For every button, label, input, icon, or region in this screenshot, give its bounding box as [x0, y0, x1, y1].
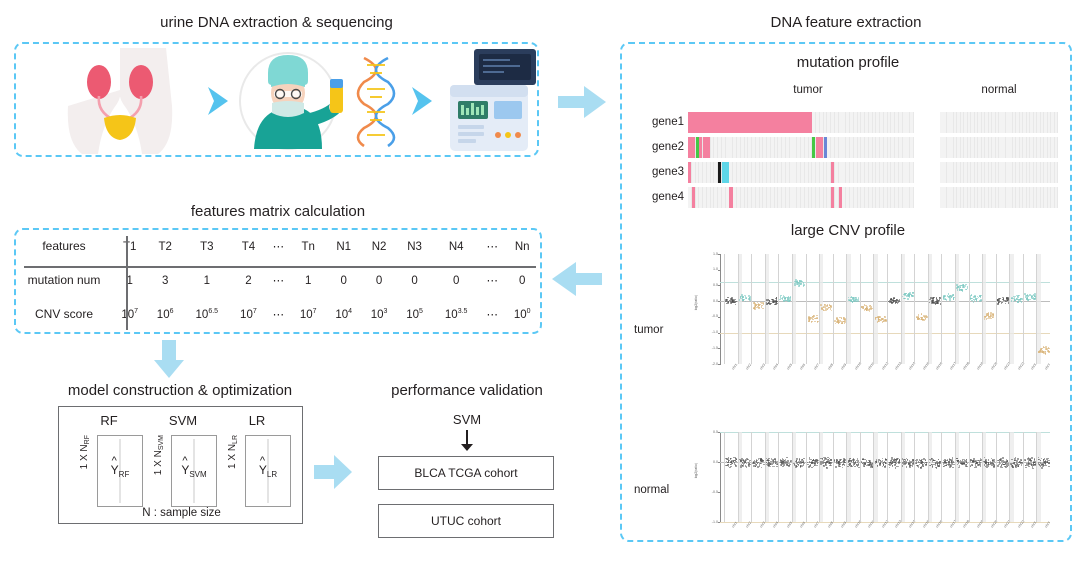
- cnv-data-point: [794, 283, 796, 285]
- cnv-data-point: [851, 466, 852, 467]
- chromosome-divider: [833, 254, 834, 364]
- gene-label-gene3: gene3: [630, 162, 684, 183]
- cnv-data-point: [739, 299, 741, 301]
- y-tick-label: 0.0: [698, 299, 718, 303]
- cnv-data-point: [1003, 298, 1005, 300]
- cnv-data-point: [952, 457, 953, 458]
- cnv-data-point: [746, 297, 748, 299]
- cnv-data-point: [1044, 458, 1045, 459]
- cnv-data-point: [842, 464, 843, 465]
- x-tick-label: chr12: [881, 361, 889, 370]
- cnv-data-point: [1011, 298, 1013, 300]
- chromosome-divider: [738, 432, 739, 522]
- y-tick-label: 0.5: [698, 430, 718, 434]
- chromosome-divider: [969, 254, 970, 364]
- cnv-data-point: [814, 463, 815, 464]
- cnv-data-point: [893, 460, 894, 461]
- chromosome-divider: [969, 432, 970, 522]
- cnv-data-point: [1028, 466, 1029, 467]
- cnv-data-point: [824, 310, 826, 312]
- cnv-data-point: [830, 459, 831, 460]
- matrix-vertical-divider: [126, 236, 128, 330]
- mutation-mark-cyan: [722, 162, 729, 183]
- x-tick-label: chr18: [962, 519, 970, 528]
- onco-block-tumor: [688, 187, 914, 208]
- cnv-data-point: [774, 458, 775, 459]
- cnv-data-point: [762, 308, 764, 310]
- chromosome-divider: [1009, 432, 1010, 522]
- cnv-data-point: [752, 463, 753, 464]
- cnv-data-point: [770, 461, 771, 462]
- arrow-left-to-matrix: [548, 258, 604, 300]
- cnv-data-point: [1048, 348, 1050, 350]
- chromosome-divider: [765, 254, 766, 364]
- y-tick-label: -1.5: [698, 346, 718, 350]
- cnv-data-point: [1029, 459, 1030, 460]
- cnv-data-point: [965, 286, 967, 288]
- kidney-anatomy-illustration: [38, 46, 208, 156]
- cnv-data-point: [1005, 464, 1006, 465]
- cnv-data-point: [1045, 352, 1047, 354]
- arrow-right-to-validation: [312, 452, 354, 492]
- cnv-data-point: [729, 467, 730, 468]
- cnv-data-point: [895, 467, 896, 468]
- chevron-arrow-icon: [204, 84, 234, 118]
- cnv-data-point: [884, 466, 885, 467]
- cnv-data-point: [807, 464, 808, 465]
- cnv-data-point: [1016, 298, 1018, 300]
- cnv-data-point: [755, 466, 756, 467]
- cnv-data-point: [1041, 467, 1042, 468]
- model-section-title: model construction & optimization: [22, 382, 338, 399]
- cnv-data-point: [1031, 460, 1032, 461]
- cnv-data-point: [838, 462, 839, 463]
- matrix-bracket-svm: YSVM: [171, 435, 217, 507]
- mutation-mark-pink: [703, 137, 710, 158]
- cnv-data-point: [892, 461, 893, 462]
- cnv-data-point: [932, 466, 933, 467]
- cnv-data-point: [788, 465, 789, 466]
- x-tick-label: chr16: [935, 519, 943, 528]
- cnv-data-point: [799, 463, 800, 464]
- cnv-data-point: [993, 314, 995, 316]
- cnv-data-point: [844, 322, 846, 324]
- row-label-features: features: [16, 230, 112, 264]
- cnv-data-point: [1020, 299, 1022, 301]
- cnv-data-point: [918, 319, 920, 321]
- onco-row-gene3: gene3: [688, 162, 1058, 183]
- cnv-data-point: [864, 466, 865, 467]
- cnv-data-point: [1045, 348, 1047, 350]
- chromosome-divider: [901, 432, 902, 522]
- chromosome-divider: [860, 254, 861, 364]
- group-label-normal: normal: [940, 84, 1058, 96]
- chromosome-divider: [792, 432, 793, 522]
- chromosome-divider: [738, 254, 739, 364]
- scientist-illustration: [238, 47, 356, 155]
- cnv-data-point: [936, 467, 937, 468]
- cnv-data-point: [898, 302, 900, 304]
- cnv-data-point: [772, 466, 773, 467]
- cnv-data-point: [835, 466, 836, 467]
- cnv-data-point: [883, 321, 885, 323]
- cnv-data-point: [950, 465, 951, 466]
- cnv-data-point: [1007, 466, 1008, 467]
- y-tick-label: 0.0: [698, 460, 718, 464]
- cnv-data-point: [953, 461, 954, 462]
- mutation-mark-pink: [729, 187, 732, 208]
- cnv-data-point: [745, 465, 746, 466]
- mutation-mark-pink: [688, 112, 812, 133]
- cnv-data-point: [921, 461, 922, 462]
- cnv-data-point: [952, 467, 953, 468]
- mutation-mark-pink: [831, 162, 834, 183]
- cnv-data-point: [768, 302, 770, 304]
- cnv-data-point: [907, 298, 909, 300]
- cnv-data-point: [878, 321, 880, 323]
- cnv-data-point: [976, 466, 977, 467]
- cnv-data-point: [949, 299, 951, 301]
- cohort-box-blca[interactable]: BLCA TCGA cohort: [378, 456, 554, 490]
- y-tick-label: -2.0: [698, 362, 718, 366]
- y-hat-lr: YLR: [259, 463, 277, 479]
- cnv-data-point: [771, 299, 773, 301]
- cnv-data-point: [757, 466, 758, 467]
- cell-cnv-score: 105: [397, 298, 432, 332]
- cnv-data-point: [834, 320, 836, 322]
- dna-section-title: DNA feature extraction: [620, 14, 1072, 31]
- cnv-data-point: [885, 458, 886, 459]
- col-header: Nn: [504, 230, 540, 264]
- cnv-data-point: [782, 466, 783, 467]
- cnv-data-point: [767, 459, 768, 460]
- cnv-data-point: [825, 465, 826, 466]
- cell-cnv-score: 106.5: [183, 298, 231, 332]
- col-header: T3: [183, 230, 231, 264]
- cell-mutation-num: 0: [432, 264, 480, 298]
- x-tick-label: chr20: [990, 519, 998, 528]
- cnv-data-point: [796, 281, 798, 283]
- cnv-data-point: [1040, 349, 1042, 351]
- cnv-data-point: [932, 299, 934, 301]
- cnv-plot-tumor: 1.51.00.50.0-0.5-1.0-1.5-2.0log2(ratio)c…: [694, 248, 1056, 398]
- cnv-data-point: [909, 297, 911, 299]
- cnv-data-point: [908, 294, 910, 296]
- cnv-data-point: [911, 295, 913, 297]
- cnv-data-point: [787, 298, 789, 300]
- cnv-data-point: [891, 299, 893, 301]
- cell-mutation-num: 0: [326, 264, 361, 298]
- chromosome-divider: [914, 432, 915, 522]
- cnv-data-point: [988, 459, 989, 460]
- cnv-data-point: [850, 458, 851, 459]
- cnv-data-point: [762, 460, 763, 461]
- chromosome-divider: [941, 432, 942, 522]
- dna-helix-icon: [354, 56, 400, 148]
- cohort-box-utuc[interactable]: UTUC cohort: [378, 504, 554, 538]
- cell-mutation-num: 1: [291, 264, 326, 298]
- cnv-data-point: [987, 465, 988, 466]
- cnv-data-point: [853, 459, 854, 460]
- cnv-data-point: [935, 465, 936, 466]
- classifier-name-svm: SVM: [147, 413, 219, 428]
- x-tick-label: chr16: [935, 361, 943, 370]
- table-header-row: features T1 T2 T3 T4 ⋯ Tn N1 N2 N3 N4 ⋯ …: [16, 230, 540, 264]
- cnv-data-point: [760, 463, 761, 464]
- row-label-cnv-score: CNV score: [16, 298, 112, 332]
- cnv-data-point: [802, 466, 803, 467]
- mutation-mark-pink: [692, 187, 695, 208]
- dimension-label-svm: 1 X NSVM: [153, 435, 165, 475]
- cnv-data-point: [755, 306, 757, 308]
- cnv-data-point: [948, 462, 949, 463]
- mutation-mark-pink: [816, 137, 823, 158]
- cnv-data-point: [939, 465, 940, 466]
- cnv-data-point: [822, 309, 824, 311]
- gridline: [720, 282, 1050, 283]
- cnv-data-point: [905, 463, 906, 464]
- col-header: T2: [147, 230, 182, 264]
- cnv-data-point: [966, 459, 967, 460]
- cnv-data-point: [986, 467, 987, 468]
- arrow-down-to-cohorts: [459, 430, 475, 452]
- cnv-data-point: [1048, 463, 1049, 464]
- cnv-data-point: [898, 301, 900, 303]
- y-tick-mark: [718, 492, 721, 493]
- cell-cnv-score: 103.5: [432, 298, 480, 332]
- chromosome-divider: [982, 432, 983, 522]
- row-label-mutation-num: mutation num: [16, 264, 112, 298]
- chromosome-divider: [806, 432, 807, 522]
- cnv-data-point: [825, 308, 827, 310]
- cnv-data-point: [1030, 463, 1031, 464]
- cell-mutation-num: 2: [231, 264, 266, 298]
- cnv-data-point: [1032, 466, 1033, 467]
- cnv-data-point: [923, 466, 924, 467]
- cnv-data-point: [974, 295, 976, 297]
- cnv-data-point: [773, 461, 774, 462]
- y-tick-label: 0.5: [698, 283, 718, 287]
- chromosome-divider: [765, 432, 766, 522]
- cnv-data-point: [1002, 297, 1004, 299]
- cnv-data-point: [771, 458, 772, 459]
- cnv-data-point: [730, 466, 731, 467]
- cnv-data-point: [788, 463, 789, 464]
- classifier-name-rf: RF: [73, 413, 145, 428]
- cell-ellipsis: ⋯: [266, 298, 290, 332]
- cnv-data-point: [1026, 297, 1028, 299]
- cnv-data-point: [867, 465, 868, 466]
- cnv-data-point: [866, 460, 867, 461]
- cnv-data-point: [1033, 298, 1035, 300]
- cnv-data-point: [824, 459, 825, 460]
- y-hat-svm: YSVM: [181, 463, 206, 479]
- cnv-data-point: [1041, 464, 1042, 465]
- x-tick-label: chr20: [990, 361, 998, 370]
- cnv-data-point: [988, 463, 989, 464]
- cnv-data-point: [839, 466, 840, 467]
- cnv-data-point: [857, 301, 859, 303]
- col-header-ellipsis: ⋯: [480, 230, 504, 264]
- chromosome-divider: [792, 254, 793, 364]
- mutation-mark-blue: [824, 137, 827, 158]
- cnv-data-point: [1005, 303, 1007, 305]
- cnv-data-point: [915, 463, 916, 464]
- cnv-data-point: [726, 299, 728, 301]
- cnv-data-point: [985, 459, 986, 460]
- x-tick-label: chr18: [962, 361, 970, 370]
- cnv-data-point: [897, 299, 899, 301]
- onco-block-normal: [940, 162, 1058, 183]
- cnv-data-point: [965, 465, 966, 466]
- cnv-data-point: [830, 465, 831, 466]
- col-header: N4: [432, 230, 480, 264]
- chromosome-divider: [996, 432, 997, 522]
- cnv-data-point: [1017, 296, 1019, 298]
- cnv-data-point: [740, 466, 741, 467]
- chromosome-divider: [751, 432, 752, 522]
- chromosome-divider: [860, 432, 861, 522]
- cnv-data-point: [743, 460, 744, 461]
- cell-mutation-num: 1: [183, 264, 231, 298]
- cnv-data-point: [1002, 457, 1003, 458]
- cnv-data-point: [1012, 467, 1013, 468]
- chromosome-divider: [819, 432, 820, 522]
- cnv-data-point: [780, 459, 781, 460]
- cnv-data-point: [1014, 300, 1016, 302]
- cnv-data-point: [847, 466, 848, 467]
- cnv-data-point: [814, 460, 815, 461]
- cell-mutation-num: 3: [147, 264, 182, 298]
- mutation-mark-black: [718, 162, 721, 183]
- matrix-horizontal-divider: [24, 266, 536, 268]
- cnv-data-point: [902, 465, 903, 466]
- col-header: N2: [361, 230, 396, 264]
- cnv-data-point: [775, 303, 777, 305]
- cnv-data-point: [1012, 463, 1013, 464]
- cnv-data-point: [1000, 466, 1001, 467]
- cnv-data-point: [774, 466, 775, 467]
- cell-ellipsis: ⋯: [480, 264, 504, 298]
- x-tick-label: chr22: [1017, 519, 1025, 528]
- cnv-row-label-tumor: tumor: [634, 324, 663, 336]
- cnv-data-point: [917, 465, 918, 466]
- cnv-data-point: [1011, 459, 1012, 460]
- cnv-data-point: [814, 321, 816, 323]
- cnv-data-point: [897, 303, 899, 305]
- chevron-arrow-icon: [408, 84, 438, 118]
- cnv-data-point: [963, 462, 964, 463]
- cnv-data-point: [959, 465, 960, 466]
- chromosome-divider: [846, 432, 847, 522]
- cnv-data-point: [741, 294, 743, 296]
- cnv-data-point: [836, 317, 838, 319]
- cnv-data-point: [957, 460, 958, 461]
- col-header: N1: [326, 230, 361, 264]
- x-tick-label: chr10: [854, 361, 862, 370]
- validation-section-title: performance validation: [342, 382, 592, 399]
- cnv-data-point: [951, 296, 953, 298]
- cnv-data-point: [879, 465, 880, 466]
- cnv-data-point: [800, 281, 802, 283]
- cnv-data-point: [743, 466, 744, 467]
- onco-block-normal: [940, 187, 1058, 208]
- cnv-data-point: [963, 286, 965, 288]
- cnv-data-point: [935, 462, 936, 463]
- chromosome-divider: [1036, 432, 1037, 522]
- chromosome-divider: [982, 254, 983, 364]
- cnv-data-point: [844, 464, 845, 465]
- y-tick-label: -0.5: [698, 314, 718, 318]
- cnv-data-point: [766, 299, 768, 301]
- gridline: [720, 432, 1050, 433]
- cnv-data-point: [931, 458, 932, 459]
- cnv-data-point: [826, 467, 827, 468]
- cnv-data-point: [912, 465, 913, 466]
- cnv-plot-normal: 0.50.0-0.5-1.0log2(ratio)chr1chr2chr3chr…: [694, 426, 1056, 554]
- cnv-data-point: [824, 457, 825, 458]
- cnv-data-point: [938, 462, 939, 463]
- x-tick-label: chr12: [881, 519, 889, 528]
- mutation-mark-pink: [688, 137, 695, 158]
- cnv-data-point: [799, 458, 800, 459]
- cnv-data-point: [1016, 460, 1017, 461]
- cnv-data-point: [902, 462, 903, 463]
- cell-cnv-score: 104: [326, 298, 361, 332]
- cnv-data-point: [992, 463, 993, 464]
- cnv-data-point: [753, 302, 755, 304]
- cnv-data-point: [863, 463, 864, 464]
- dna-feature-extraction-panel: mutation profile tumor normal gene1gene2…: [620, 42, 1072, 542]
- cnv-data-point: [865, 463, 866, 464]
- cnv-data-point: [759, 465, 760, 466]
- onco-block-normal: [940, 137, 1058, 158]
- cnv-data-point: [878, 316, 880, 318]
- cnv-data-point: [979, 465, 980, 466]
- cnv-data-point: [857, 462, 858, 463]
- y-tick-label: -0.5: [698, 490, 718, 494]
- cnv-data-point: [931, 302, 933, 304]
- cell-mutation-num: 0: [397, 264, 432, 298]
- chromosome-divider: [806, 254, 807, 364]
- validation-model-label: SVM: [342, 412, 592, 427]
- chromosome-divider: [873, 432, 874, 522]
- mutation-mark-pink: [839, 187, 842, 208]
- chromosome-divider: [846, 254, 847, 364]
- mutation-oncoprint: gene1gene2gene3gene4: [688, 112, 1058, 210]
- y-hat-rf: YRF: [111, 463, 130, 479]
- cnv-data-point: [735, 461, 736, 462]
- chromosome-divider: [928, 254, 929, 364]
- cnv-data-point: [929, 462, 930, 463]
- cnv-data-point: [740, 460, 741, 461]
- classifier-name-lr: LR: [221, 413, 293, 428]
- cnv-data-point: [918, 314, 920, 316]
- cnv-data-point: [798, 285, 800, 287]
- cnv-data-point: [882, 458, 883, 459]
- chromosome-divider: [833, 432, 834, 522]
- cnv-data-point: [788, 301, 790, 303]
- chromosome-divider: [778, 432, 779, 522]
- cnv-data-point: [1026, 463, 1027, 464]
- cnv-data-point: [1045, 465, 1046, 466]
- cell-cnv-score: 107: [112, 298, 147, 332]
- cnv-data-point: [1018, 465, 1019, 466]
- cnv-data-point: [761, 306, 763, 308]
- cnv-data-point: [974, 299, 976, 301]
- cnv-data-point: [972, 464, 973, 465]
- cnv-data-point: [866, 306, 868, 308]
